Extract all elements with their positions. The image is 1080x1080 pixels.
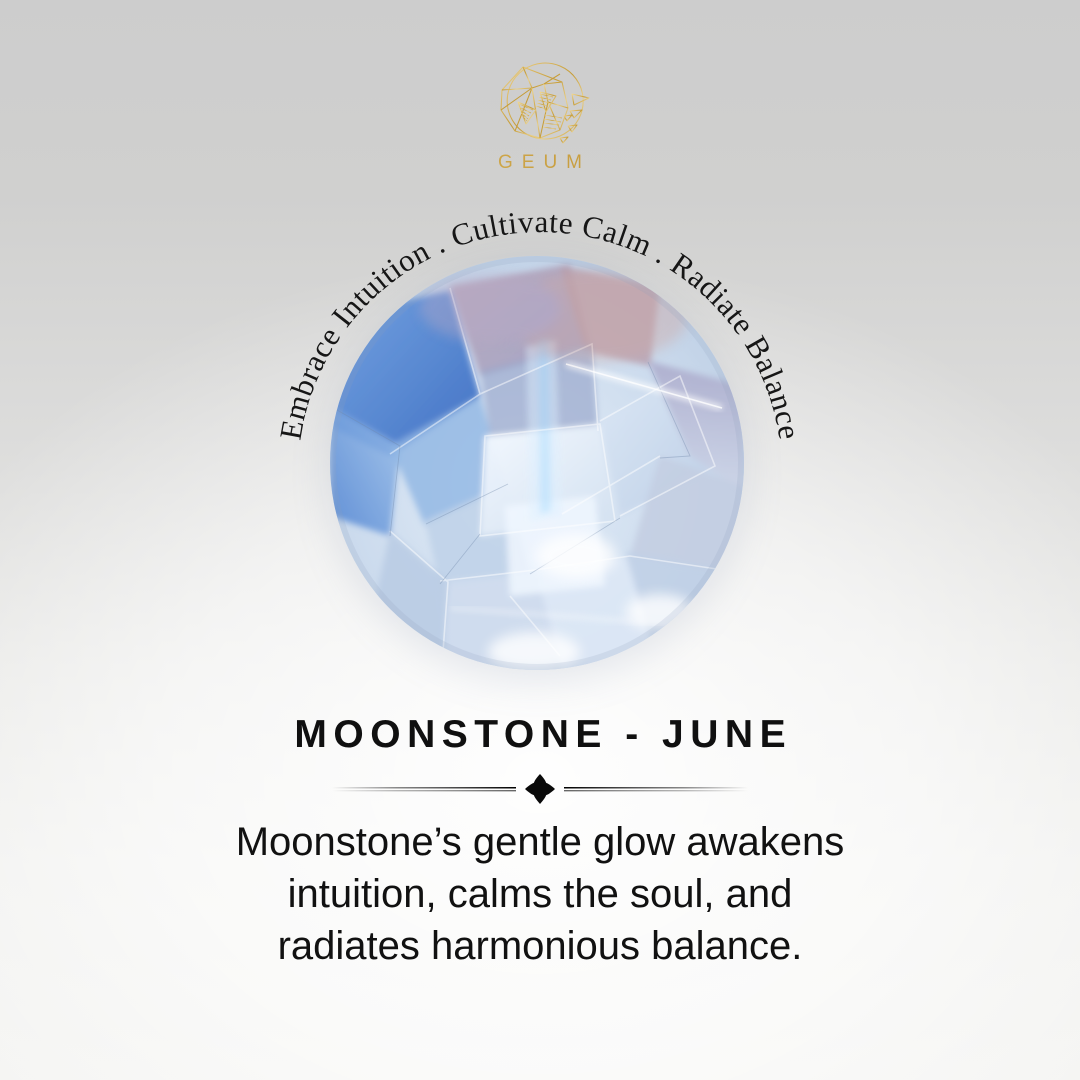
description-text: Moonstone’s gentle glow awakens intuitio…	[210, 816, 870, 972]
brand-wordmark: GEUM	[0, 152, 1080, 174]
gemstone-info-card: GEUM	[0, 0, 1080, 1080]
brand-logo: GEUM	[0, 58, 1080, 174]
moonstone-facets	[330, 256, 744, 670]
moonstone-photo	[330, 256, 744, 670]
faceted-gem-circle-icon	[488, 58, 592, 150]
gemstone-image	[330, 256, 744, 670]
page-title: MOONSTONE - JUNE	[0, 713, 1080, 757]
four-petal-diamond-ornament	[525, 774, 555, 804]
ornamental-divider	[330, 772, 750, 806]
